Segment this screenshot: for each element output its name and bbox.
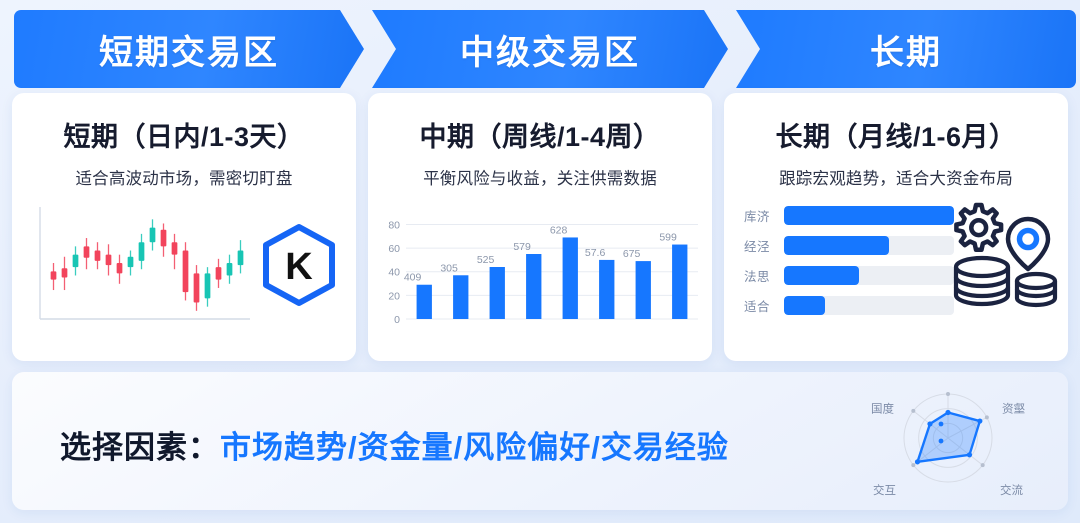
summary-value: 市场趋势/资金量/风险偏好/交易经验 — [220, 430, 729, 465]
svg-text:40: 40 — [388, 267, 400, 279]
horizontal-bar-chart: 库济经泾法思适合 — [744, 205, 954, 325]
svg-text:20: 20 — [388, 290, 400, 302]
horizontal-bar-fill — [784, 206, 954, 225]
horizontal-bar-track — [784, 266, 954, 285]
horizontal-bar-label: 适合 — [744, 296, 784, 315]
card-short-term-title: 短期（日内/1-3天） — [12, 115, 356, 154]
gear-icon — [956, 205, 1001, 250]
svg-text:599: 599 — [659, 232, 677, 244]
step-arrow-header: 短期交易区 中级交易区 长期 — [8, 10, 1072, 88]
svg-text:资壑: 资壑 — [1002, 401, 1025, 415]
horizontal-bar-row: 经泾 — [744, 235, 954, 256]
svg-text:579: 579 — [513, 241, 531, 253]
radar-chart: 资壑交流交互国度 — [848, 378, 1048, 504]
bar-chart: 020406080 40930552557962857.6675599 — [376, 201, 706, 343]
bar-chart-svg: 020406080 40930552557962857.6675599 — [376, 201, 706, 343]
horizontal-bar-label: 法思 — [744, 266, 784, 285]
radar-chart-svg: 资壑交流交互国度 — [848, 378, 1048, 504]
horizontal-bar-fill — [784, 296, 825, 315]
horizontal-bar-track — [784, 296, 954, 315]
infographic-root: 短期交易区 中级交易区 长期 短期（日内/1-3天） 适合高波动市场，需密切盯盘 — [0, 0, 1080, 523]
horizontal-bar-label: 经泾 — [744, 236, 784, 255]
step-arrow-long-term-label: 长期 — [870, 25, 942, 74]
svg-text:K: K — [285, 246, 313, 288]
card-mid-term-figure: 020406080 40930552557962857.6675599 — [368, 201, 712, 351]
svg-text:525: 525 — [477, 254, 495, 266]
card-long-term-figure: 库济经泾法思适合 — [724, 201, 1068, 351]
horizontal-bar-track — [784, 206, 954, 225]
svg-text:交流: 交流 — [1000, 483, 1023, 497]
horizontal-bar-fill — [784, 266, 859, 285]
location-pin-icon — [1008, 219, 1048, 269]
step-arrow-mid-term[interactable]: 中级交易区 — [372, 10, 728, 88]
step-arrow-long-term[interactable]: 长期 — [736, 10, 1076, 88]
card-mid-term-title: 中期（周线/1-4周） — [368, 115, 712, 154]
horizontal-bar-row: 库济 — [744, 205, 954, 226]
horizontal-bar-track — [784, 236, 954, 255]
step-arrow-mid-term-label: 中级交易区 — [460, 25, 640, 74]
candlestick-chart — [26, 203, 256, 335]
card-short-term[interactable]: 短期（日内/1-3天） 适合高波动市场，需密切盯盘 K — [12, 93, 356, 361]
card-long-term-subtitle: 跟踪宏观趋势，适合大资金布局 — [724, 165, 1068, 189]
horizontal-bar-fill — [784, 236, 889, 255]
svg-text:国度: 国度 — [871, 401, 894, 415]
summary-panel: 选择因素：市场趋势/资金量/风险偏好/交易经验 资壑交流交互国度 — [12, 372, 1068, 510]
card-long-term-title: 长期（月线/1-6月） — [724, 115, 1068, 154]
horizontal-bar-row: 法思 — [744, 265, 954, 286]
svg-text:57.6: 57.6 — [585, 247, 606, 259]
svg-text:305: 305 — [440, 262, 458, 274]
svg-text:60: 60 — [388, 243, 400, 255]
card-long-term[interactable]: 长期（月线/1-6月） 跟踪宏观趋势，适合大资金布局 库济经泾法思适合 — [724, 93, 1068, 361]
step-arrow-short-term-label: 短期交易区 — [99, 25, 279, 74]
candlestick-svg — [26, 203, 256, 335]
svg-text:交互: 交互 — [873, 483, 896, 497]
horizontal-bar-row: 适合 — [744, 295, 954, 316]
card-short-term-subtitle: 适合高波动市场，需密切盯盘 — [12, 165, 356, 189]
card-mid-term-subtitle: 平衡风险与收益，关注供需数据 — [368, 165, 712, 189]
hexagon-k-icon: K — [260, 223, 338, 307]
horizontal-bar-label: 库济 — [744, 206, 784, 225]
summary-label: 选择因素： — [60, 430, 220, 465]
card-mid-term[interactable]: 中期（周线/1-4周） 平衡风险与收益，关注供需数据 020406080 409… — [368, 93, 712, 361]
icon-cluster — [950, 201, 1062, 313]
svg-text:80: 80 — [388, 219, 400, 231]
card-short-term-figure: K — [12, 201, 356, 351]
coin-stack-small-icon — [1017, 274, 1055, 305]
svg-text:628: 628 — [550, 224, 568, 236]
coin-stack-icon — [956, 258, 1008, 304]
svg-text:409: 409 — [404, 272, 422, 284]
svg-text:0: 0 — [394, 314, 400, 326]
svg-text:675: 675 — [623, 248, 641, 260]
summary-text: 选择因素：市场趋势/资金量/风险偏好/交易经验 — [60, 422, 729, 467]
step-arrow-short-term[interactable]: 短期交易区 — [14, 10, 364, 88]
